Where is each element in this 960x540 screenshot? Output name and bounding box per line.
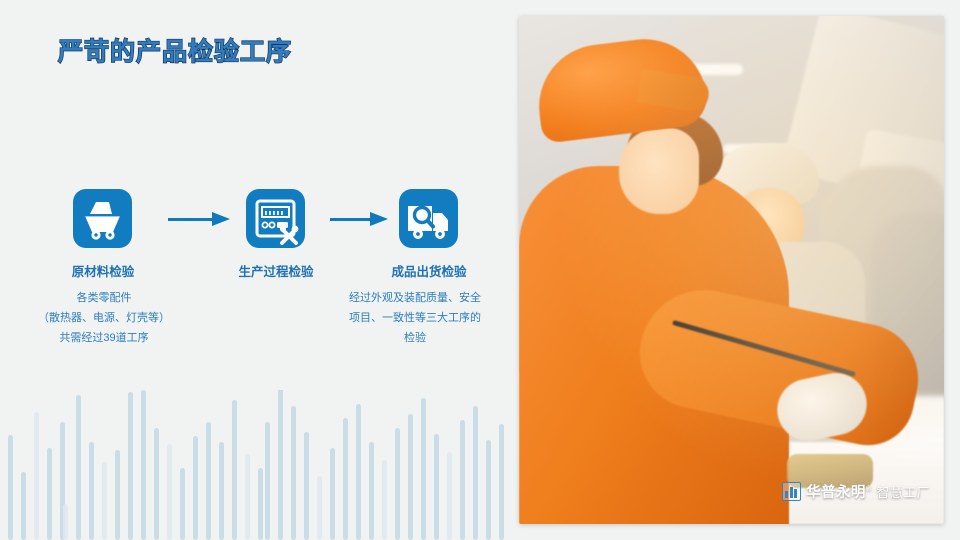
decoration-bar xyxy=(219,442,224,540)
decoration-bar xyxy=(154,428,159,540)
decoration-bar xyxy=(460,420,465,540)
brand-logo: 华普永明® 智慧工厂 xyxy=(782,481,930,502)
description-line: 共需经过39道工序 xyxy=(10,328,198,348)
decoration-bar xyxy=(89,442,94,540)
decoration-bar xyxy=(245,454,250,540)
decoration-bar xyxy=(434,434,439,540)
decoration-bar xyxy=(128,392,133,540)
arrow-right-icon xyxy=(330,212,388,226)
step-label-finished-goods: 成品出货检验 xyxy=(368,261,490,280)
decoration-bar xyxy=(115,450,120,540)
decoration-bar xyxy=(232,400,237,540)
slide: 严苛的产品检验工序 xyxy=(0,0,960,540)
decoration-bar xyxy=(193,436,198,540)
bar-chart-decoration xyxy=(0,390,520,540)
decoration-bar xyxy=(8,435,13,540)
decoration-bar xyxy=(180,468,185,540)
decoration-bar xyxy=(395,428,400,540)
arrow-right-icon xyxy=(168,212,230,226)
brand-name: 华普永明® xyxy=(806,481,871,502)
decoration-bar xyxy=(167,444,172,540)
decoration-bar xyxy=(60,422,65,540)
decoration-bar xyxy=(304,432,309,540)
page-title: 严苛的产品检验工序 xyxy=(58,32,292,68)
decoration-bar xyxy=(258,468,263,540)
step-label-raw-material: 原材料检验 xyxy=(42,261,164,280)
decoration-bar xyxy=(278,390,283,540)
decoration-bar xyxy=(141,390,146,540)
decoration-bar xyxy=(473,406,478,540)
brand-subtitle: 智慧工厂 xyxy=(876,482,930,501)
description-line: （散热器、电源、灯壳等） xyxy=(10,308,198,328)
decoration-bar xyxy=(102,462,107,540)
factory-photo: 华普永明® 智慧工厂 xyxy=(519,16,944,524)
step-label-production-process: 生产过程检验 xyxy=(216,261,336,280)
decoration-bar xyxy=(63,504,68,540)
decoration-bar xyxy=(330,448,335,540)
decoration-bar xyxy=(291,406,296,540)
inspection-machine-tools-icon[interactable] xyxy=(246,189,305,248)
decoration-bar xyxy=(408,414,413,540)
decoration-bar xyxy=(447,452,452,540)
photo-warm-light-overlay xyxy=(519,16,944,524)
decoration-bar xyxy=(421,398,426,540)
description-line: 检验 xyxy=(330,328,500,348)
mine-cart-icon[interactable] xyxy=(73,189,132,248)
decoration-bar xyxy=(206,422,211,540)
decoration-bar xyxy=(382,460,387,540)
description-line: 各类零配件 xyxy=(10,288,198,308)
factory-bars-logo-icon xyxy=(782,482,801,501)
decoration-bar xyxy=(34,412,39,540)
decoration-bar xyxy=(369,442,374,540)
decoration-bar xyxy=(356,404,361,540)
decoration-bar xyxy=(47,448,52,540)
inspection-flow xyxy=(0,186,500,246)
decoration-bar xyxy=(21,472,26,540)
decoration-bar xyxy=(343,418,348,540)
step-description-raw-material: 各类零配件 （散热器、电源、灯壳等） 共需经过39道工序 xyxy=(10,288,198,348)
decoration-bar xyxy=(265,422,270,540)
decoration-bar xyxy=(317,476,322,540)
description-line: 经过外观及装配质量、安全 xyxy=(330,288,500,308)
decoration-bar xyxy=(76,395,81,540)
decoration-bar xyxy=(486,440,491,540)
description-line: 项目、一致性等三大工序的 xyxy=(330,308,500,328)
step-description-finished-goods: 经过外观及装配质量、安全 项目、一致性等三大工序的 检验 xyxy=(330,288,500,348)
decoration-bar xyxy=(499,424,504,540)
truck-magnifier-icon[interactable] xyxy=(399,189,458,248)
